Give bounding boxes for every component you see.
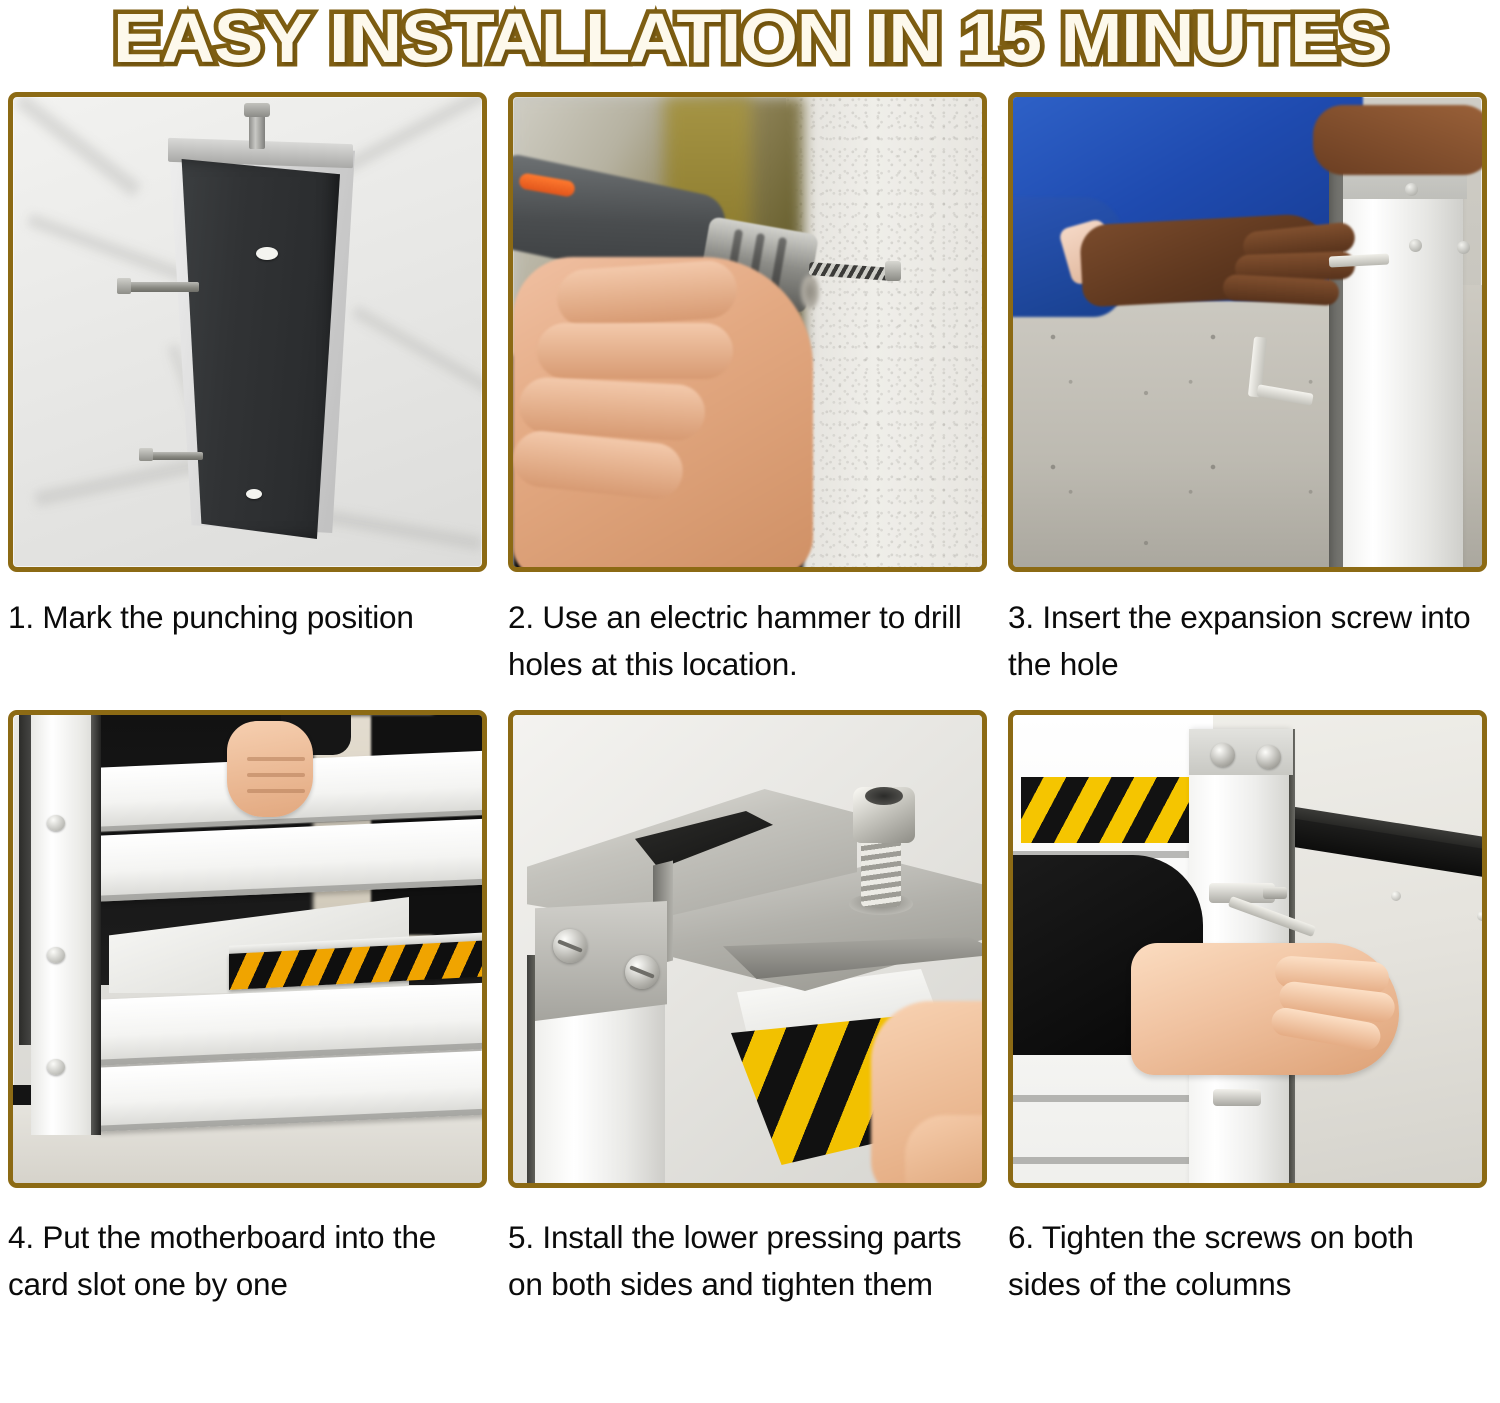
column-screw xyxy=(1211,743,1235,767)
side-rod-upper-cap xyxy=(117,278,131,294)
drill-bit-tip xyxy=(885,261,901,281)
step-5-caption: 5. Install the lower pressing parts on b… xyxy=(508,1214,978,1308)
drilled-hole-mark xyxy=(801,275,819,309)
step-4-photo-motherboard-card-slot xyxy=(8,710,487,1188)
column-post-dark-face xyxy=(175,159,340,539)
step-4-caption: 4. Put the motherboard into the card slo… xyxy=(8,1214,478,1308)
finger-crease xyxy=(247,757,305,761)
steps-grid: 1. Mark the punching position xyxy=(0,92,1500,1308)
step-6-caption: 6. Tighten the screws on both sides of t… xyxy=(1008,1214,1478,1308)
column-screw xyxy=(47,947,65,963)
step-2-caption: 2. Use an electric hammer to drill holes… xyxy=(508,594,978,688)
column-screw xyxy=(47,815,65,831)
step-6-cell: 6. Tighten the screws on both sides of t… xyxy=(1008,710,1492,1308)
step-3-cell: 3. Insert the expansion screw into the h… xyxy=(1008,92,1492,688)
steps-row-2: 4. Put the motherboard into the card slo… xyxy=(8,710,1492,1308)
marking-hole-lower xyxy=(246,489,262,499)
column-screw xyxy=(1409,239,1422,252)
step-3-photo-insert-expansion-screw xyxy=(1008,92,1487,572)
step-2-cell: 2. Use an electric hammer to drill holes… xyxy=(508,92,1008,688)
side-rod-upper xyxy=(121,282,199,292)
top-bolt-head xyxy=(244,103,270,117)
worker-upper-arm xyxy=(1313,105,1487,175)
installer-hand xyxy=(227,721,313,817)
column-screw xyxy=(1405,183,1418,196)
column-screw xyxy=(47,1059,65,1075)
step-5-cell: 5. Install the lower pressing parts on b… xyxy=(508,710,1008,1308)
column-screw xyxy=(1457,241,1470,254)
marking-hole-upper xyxy=(256,247,278,260)
page-title: EASY INSTALLATION IN 15 MINUTES xyxy=(113,2,1387,74)
steps-row-1: 1. Mark the punching position xyxy=(8,92,1492,688)
step-5-photo-lower-pressing-parts xyxy=(508,710,987,1188)
step-1-caption: 1. Mark the punching position xyxy=(8,594,478,641)
step-1-photo-mark-punching-position xyxy=(8,92,487,572)
step-3-caption: 3. Insert the expansion screw into the h… xyxy=(1008,594,1478,688)
side-rod-lower-cap xyxy=(139,448,153,461)
seal-fixing-pin xyxy=(1477,911,1487,921)
plank-groove xyxy=(1013,1095,1209,1102)
installer-hand-lower xyxy=(905,1115,987,1188)
column-card-slot-seam xyxy=(91,715,101,1135)
cloth-fold xyxy=(14,93,142,198)
finger-crease xyxy=(247,773,305,777)
column-mid-bolt-tip xyxy=(1263,887,1287,899)
hazard-stripe-panel xyxy=(1021,777,1193,843)
step-1-cell: 1. Mark the punching position xyxy=(8,92,508,688)
step-4-cell: 4. Put the motherboard into the card slo… xyxy=(8,710,508,1308)
plank-groove xyxy=(1013,1157,1209,1164)
cloth-fold xyxy=(351,305,487,400)
infographic-header: EASY INSTALLATION IN 15 MINUTES xyxy=(0,0,1500,92)
operator-finger xyxy=(537,323,733,379)
step-6-photo-tighten-screws xyxy=(1008,710,1487,1188)
column-screw xyxy=(1257,745,1281,769)
bolt-hex-bore xyxy=(865,787,903,805)
seal-fixing-pin xyxy=(1391,891,1401,901)
column-lower-bolt xyxy=(1213,1089,1261,1106)
finger-crease xyxy=(247,789,305,793)
step-2-photo-drill-holes xyxy=(508,92,987,572)
wall-texture xyxy=(786,97,982,567)
